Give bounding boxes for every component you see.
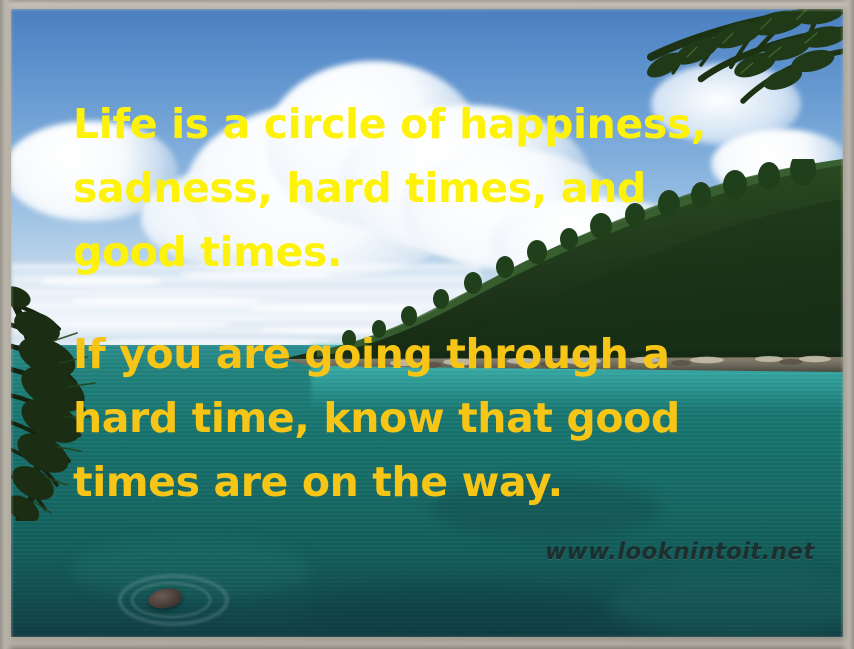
watermark-url: www.looknintoit.net (545, 539, 815, 565)
quote-paragraph-1: Life is a circle of happiness, sadness, … (73, 92, 773, 284)
quote-paragraph-2: If you are going through a hard time, kn… (73, 322, 773, 514)
quote-text-block: Life is a circle of happiness, sadness, … (73, 92, 773, 514)
quote-poster: Life is a circle of happiness, sadness, … (0, 0, 854, 649)
